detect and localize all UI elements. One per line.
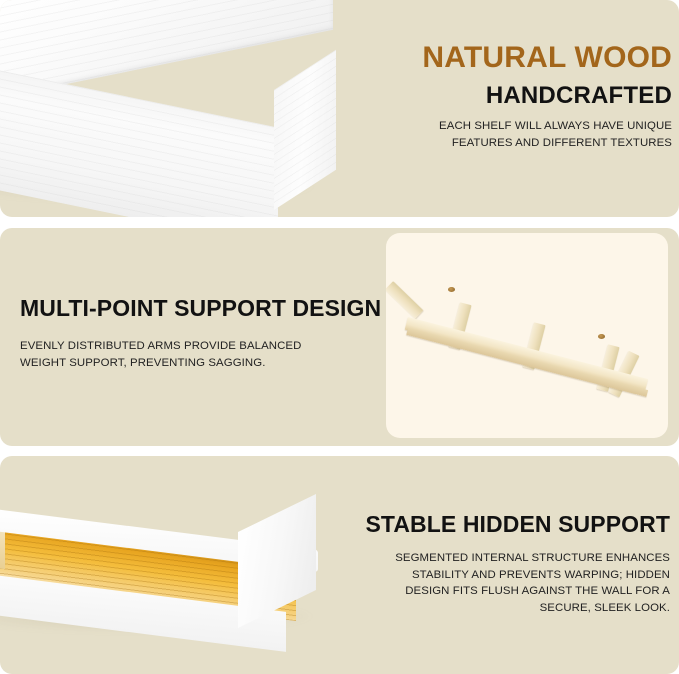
panel-2-body-text: EVENLY DISTRIBUTED ARMS PROVIDE BALANCED… [20, 338, 350, 371]
wooden-multi-arm-bracket-image [386, 233, 668, 438]
internal-divider [0, 530, 5, 569]
wood-grain-texture [274, 50, 336, 210]
screw-hole-icon [448, 287, 455, 292]
panel-1-title: NATURAL WOOD [422, 42, 672, 74]
panel-2-title: MULTI-POINT SUPPORT DESIGN [20, 296, 381, 320]
hollow-shelf-cross-section-image [0, 508, 336, 658]
wood-grain-texture [0, 66, 278, 217]
infographic-board: NATURAL WOOD HANDCRAFTED EACH SHELF WILL… [0, 0, 679, 674]
shelf-block-side-face [274, 50, 336, 210]
shelf-block-front-face [0, 66, 278, 217]
panel-1-body-text: EACH SHELF WILL ALWAYS HAVE UNIQUE FEATU… [392, 118, 672, 151]
panel-1-subtitle: HANDCRAFTED [486, 83, 672, 108]
panel-3-title: STABLE HIDDEN SUPPORT [365, 512, 670, 536]
panel-3-body-text: SEGMENTED INTERNAL STRUCTURE ENHANCES ST… [380, 550, 670, 616]
white-wood-shelf-block-image [0, 4, 358, 214]
screw-hole-icon [598, 334, 605, 339]
bracket-arm [386, 281, 423, 319]
panel-natural-wood: NATURAL WOOD HANDCRAFTED EACH SHELF WILL… [0, 0, 679, 217]
